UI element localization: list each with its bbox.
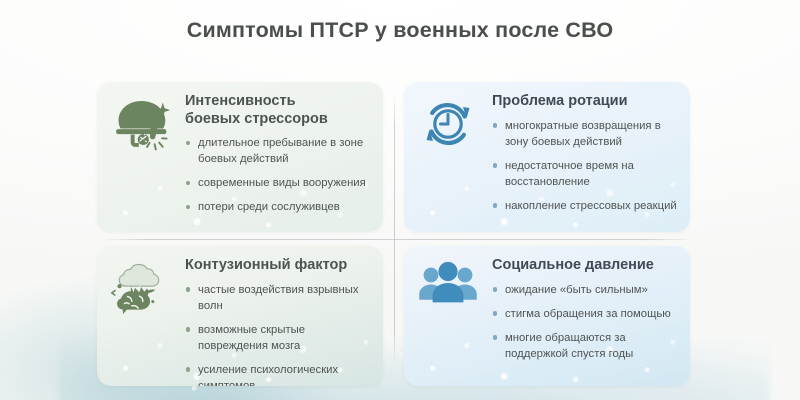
list-item: усиление психологических симптомов [185, 362, 371, 386]
card-title-line-1: Интенсивность [185, 93, 296, 109]
list-item: частые воздействия взрывных волн [185, 282, 371, 314]
card-bullet-list: длительное пребывание в зоне боевых дейс… [185, 135, 371, 215]
brain-blast-icon [97, 246, 185, 386]
clock-rotation-icon [404, 82, 492, 232]
list-item: длительное пребывание в зоне боевых дейс… [185, 135, 371, 167]
card-title: Контузионный фактор [185, 257, 371, 275]
card-title-line-2: боевых стрессоров [185, 111, 328, 127]
card-bullet-list: ожидание «быть сильным» стигма обращения… [492, 282, 678, 362]
list-item: многие обращаются за поддержкой спустя г… [492, 330, 678, 362]
card-title: Интенсивность боевых стрессоров [185, 93, 371, 128]
list-item: многократные возвращения в зону боевых д… [492, 118, 678, 150]
card-rotation-problem[interactable]: Проблема ротации многократные возвращени… [404, 82, 690, 232]
list-item: возможные скрытые повреждения мозга [185, 322, 371, 354]
list-item: накопление стрессовых реакций [492, 198, 678, 214]
card-concussion-factor[interactable]: Контузионный фактор частые воздействия в… [97, 246, 383, 386]
card-bullet-list: многократные возвращения в зону боевых д… [492, 118, 678, 214]
people-group-icon [404, 246, 492, 386]
list-item: ожидание «быть сильным» [492, 282, 678, 298]
list-item: современные виды вооружения [185, 175, 371, 191]
horizontal-divider [100, 239, 695, 240]
list-item: потери среди сослуживцев [185, 199, 371, 215]
card-title: Проблема ротации [492, 93, 678, 111]
card-combat-stressors[interactable]: Интенсивность боевых стрессоров длительн… [97, 82, 383, 232]
vertical-divider [394, 95, 395, 365]
military-helmet-icon [97, 82, 185, 232]
page-title: Симптомы ПТСР у военных после СВО [0, 18, 800, 43]
slide-canvas: Симптомы ПТСР у военных после СВО [0, 0, 800, 400]
list-item: стигма обращения за помощью [492, 306, 678, 322]
card-social-pressure[interactable]: Социальное давление ожидание «быть сильн… [404, 246, 690, 386]
card-bullet-list: частые воздействия взрывных волн возможн… [185, 282, 371, 386]
list-item: недостаточное время на восстановление [492, 158, 678, 190]
card-title: Социальное давление [492, 257, 678, 275]
